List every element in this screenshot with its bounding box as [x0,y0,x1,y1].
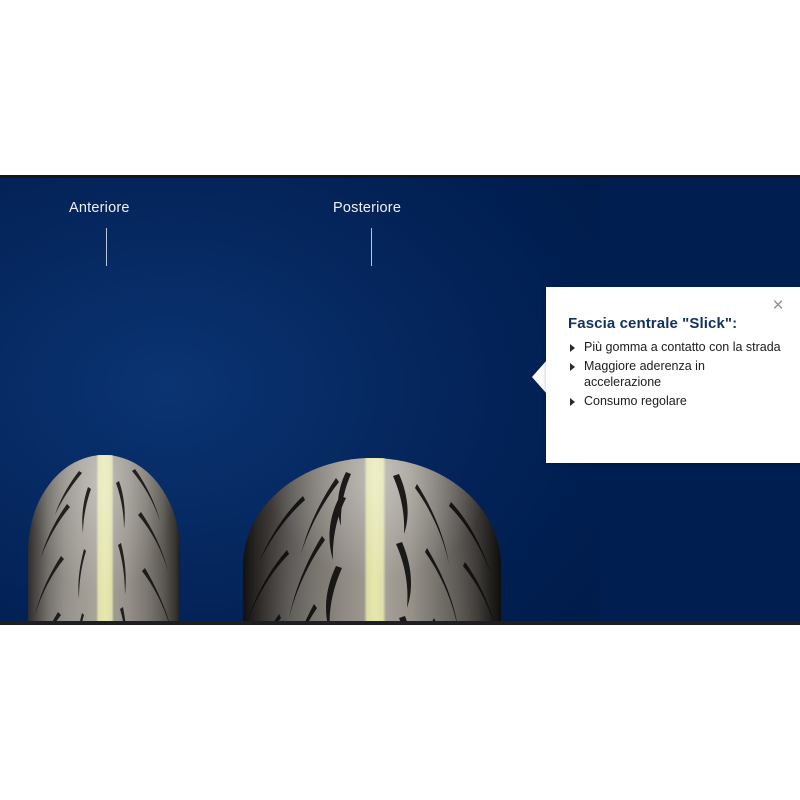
rear-tire-label-connector [371,228,372,266]
front-tire-slick-band [96,455,114,625]
list-item: Più gomma a contatto con la strada [568,339,782,356]
tooltip-bullet-list: Più gomma a contatto con la strada Maggi… [568,339,782,411]
panel-top-border [0,175,800,178]
panel-bottom-border [0,621,800,625]
tooltip-title: Fascia centrale "Slick": [568,315,737,332]
rear-tire-label: Posteriore [333,200,401,216]
front-tire-label-connector [106,228,107,266]
rear-tire[interactable] [243,458,501,625]
close-icon[interactable]: × [767,295,789,317]
tooltip-pointer-arrow [532,360,547,394]
list-item: Consumo regolare [568,393,782,410]
front-tire[interactable] [28,455,180,625]
front-tire-label: Anteriore [69,200,130,216]
screenshot-root: Anteriore Posteriore × Fascia centrale "… [0,0,800,800]
list-item: Maggiore aderenza in accelerazione [568,358,782,391]
rear-tire-slick-band [364,458,386,625]
slick-band-tooltip[interactable]: × Fascia centrale "Slick": Più gomma a c… [546,287,800,463]
